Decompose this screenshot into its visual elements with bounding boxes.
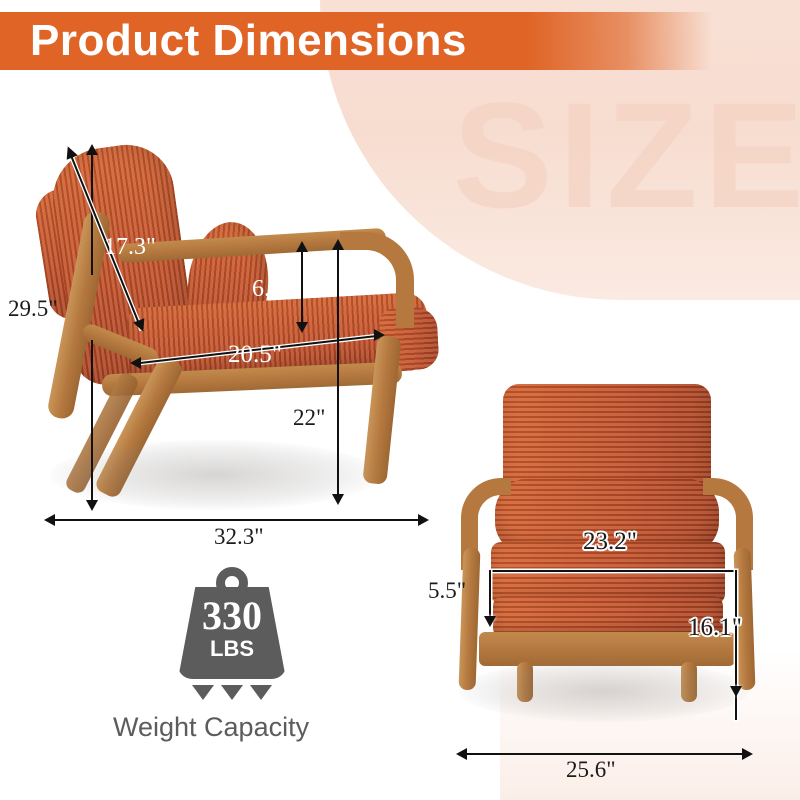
dimension-label-seat-height: 16.1"	[688, 614, 742, 642]
arrow-cushion-thickness	[484, 616, 496, 627]
dimline-seat-height	[735, 570, 737, 720]
dimline-overall-width	[464, 753, 744, 755]
weight-capacity-value: 330	[178, 595, 286, 637]
dimension-label-armrest-clearance: 6.3"	[252, 276, 292, 303]
arrow-overall-height-top	[86, 144, 98, 155]
arrow-armrest-top	[296, 241, 308, 252]
arrow-overall-height-bottom	[86, 500, 98, 511]
dimension-label-cushion-thickness: 5.5"	[428, 578, 466, 604]
dimline-seat-to-back-height	[337, 246, 339, 498]
infographic-canvas: SIZE Product Dimensions	[0, 0, 800, 800]
arrow-seat-to-back-bottom	[332, 494, 344, 505]
dimension-label-overall-height: 29.5"	[8, 296, 58, 322]
dimline-overall-height-lower	[91, 340, 93, 502]
arrow-overall-width-right	[742, 748, 753, 760]
weight-capacity-badge: 330 LBS	[152, 565, 312, 710]
dimension-label-overall-width: 25.6"	[566, 757, 616, 783]
weight-capacity-caption: Weight Capacity	[113, 712, 309, 742]
dimension-label-seat-to-back-height: 22"	[293, 405, 325, 431]
floor-shadow-side	[50, 440, 380, 510]
weight-arrow-center	[221, 685, 243, 700]
frame-left-upright	[459, 548, 481, 691]
dimline-overall-depth	[52, 519, 420, 521]
dimension-label-seat-width: 23.2"	[583, 528, 637, 556]
arrow-overall-width-left	[456, 748, 467, 760]
arrow-seat-height	[730, 686, 742, 697]
dimension-label-backrest-height: 17.3"	[104, 234, 156, 261]
arrow-armrest-bottom	[296, 322, 308, 333]
arrow-overall-depth-right	[418, 514, 429, 526]
dimension-label-overall-depth: 32.3"	[214, 524, 264, 550]
weight-arrow-left	[192, 685, 214, 700]
arrow-seat-depth-right	[374, 329, 385, 341]
arrow-seat-to-back-top	[332, 239, 344, 250]
dimline-seat-width	[490, 570, 736, 572]
dimline-cushion-thickness	[489, 570, 491, 622]
dimension-label-seat-depth: 20.5"	[228, 341, 282, 369]
arrow-overall-depth-left	[44, 514, 55, 526]
floor-shadow-front	[459, 660, 749, 722]
frame-arm-curve	[340, 232, 414, 328]
front-view-chair-illustration	[455, 370, 755, 750]
page-title: Product Dimensions	[30, 12, 467, 70]
size-watermark: SIZE	[453, 80, 800, 230]
arrow-seat-depth-left	[130, 357, 141, 369]
dimline-armrest-clearance	[301, 248, 303, 326]
weight-capacity-unit: LBS	[178, 637, 286, 661]
weight-arrow-right	[250, 685, 272, 700]
